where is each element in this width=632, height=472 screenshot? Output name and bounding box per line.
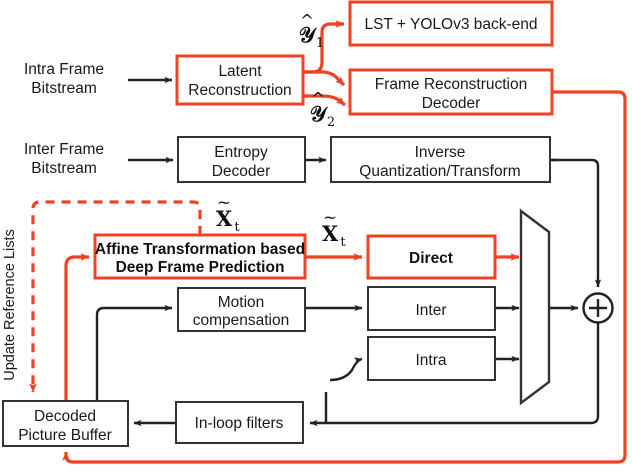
- block-direct[interactable]: Direct: [368, 236, 495, 278]
- inter-bitstream-line2: Bitstream: [31, 160, 96, 177]
- block-intra-mode[interactable]: Intra: [368, 337, 495, 380]
- edge-feed-to-intra: [330, 359, 362, 380]
- intra-bitstream-line1: Intra Frame: [24, 61, 104, 78]
- block-inverse-quantization-transform[interactable]: Inverse Quantization/Transform: [331, 137, 550, 182]
- block-latent-reconstruction[interactable]: Latent Reconstruction: [177, 56, 303, 104]
- inverse-quant-label-line2: Quantization/Transform: [359, 163, 520, 180]
- affine-prediction-label-line2: Deep Frame Prediction: [116, 259, 285, 276]
- x-tilde-left-symbol: X: [216, 206, 233, 231]
- x-tilde-right-subscript: t: [340, 235, 346, 250]
- intra-mode-label: Intra: [415, 352, 446, 369]
- frame-reconstruction-decoder-label-line1: Frame Reconstruction: [375, 76, 527, 93]
- edge-update-reference-lists: [33, 202, 200, 392]
- frame-reconstruction-decoder-label-line2: Decoder: [422, 95, 481, 112]
- annotation-x-tilde-t-left: ~ X t: [216, 193, 241, 235]
- edge-latent-to-frd-upper: [303, 72, 344, 85]
- y-hat-2-subscript: 2: [327, 115, 335, 130]
- input-intra-frame-bitstream: Intra Frame Bitstream: [24, 61, 104, 97]
- y-hat-1-subscript: 1: [316, 36, 324, 51]
- mux-selector[interactable]: [521, 211, 549, 403]
- block-motion-compensation[interactable]: Motion compensation: [178, 288, 305, 331]
- edge-dpb-to-affine: [66, 257, 89, 401]
- entropy-decoder-label-line2: Decoder: [212, 163, 271, 180]
- direct-label: Direct: [409, 250, 453, 267]
- motion-compensation-label-line2: compensation: [193, 312, 290, 329]
- block-frame-reconstruction-decoder[interactable]: Frame Reconstruction Decoder: [350, 70, 552, 114]
- latent-reconstruction-label-line1: Latent: [218, 63, 262, 80]
- connectors-red-dashed: [33, 202, 200, 392]
- annotation-x-tilde-t-right: ~ X t: [322, 208, 347, 250]
- annotation-y-hat-2: ^ 𝒴 2: [310, 89, 335, 130]
- entropy-decoder-label-line1: Entropy: [214, 144, 268, 161]
- x-tilde-left-subscript: t: [234, 220, 240, 235]
- adder-node: [584, 294, 613, 323]
- motion-compensation-label-line1: Motion: [218, 294, 265, 311]
- update-reference-lists-label: Update Reference Lists: [2, 229, 18, 381]
- inter-mode-label: Inter: [415, 302, 446, 319]
- inverse-quant-label-line1: Inverse: [415, 144, 466, 161]
- decoded-picture-buffer-label-line2: Picture Buffer: [18, 427, 112, 444]
- latent-reconstruction-label-line2: Reconstruction: [188, 82, 291, 99]
- decoded-picture-buffer-label-line1: Decoded: [34, 408, 96, 425]
- lst-yolov3-label: LST + YOLOv3 back-end: [364, 16, 537, 33]
- block-decoded-picture-buffer[interactable]: Decoded Picture Buffer: [3, 401, 128, 446]
- edge-dpb-to-motioncomp: [97, 308, 172, 401]
- x-tilde-right-symbol: X: [322, 221, 339, 246]
- affine-prediction-label-line1: Affine Transformation based: [95, 241, 305, 258]
- edge-invquant-to-adder: [550, 160, 598, 287]
- block-inter-mode[interactable]: Inter: [368, 287, 495, 330]
- block-lst-yolov3-backend[interactable]: LST + YOLOv3 back-end: [350, 2, 552, 45]
- diagram-canvas: Latent Reconstruction LST + YOLOv3 back-…: [0, 0, 632, 472]
- annotation-y-hat-1: ^ 𝒴 1: [299, 11, 324, 51]
- block-affine-deep-frame-prediction[interactable]: Affine Transformation based Deep Frame P…: [95, 235, 305, 278]
- decoder-architecture-diagram: Latent Reconstruction LST + YOLOv3 back-…: [0, 0, 632, 472]
- intra-bitstream-line2: Bitstream: [31, 80, 96, 97]
- block-entropy-decoder[interactable]: Entropy Decoder: [178, 137, 305, 182]
- block-in-loop-filters[interactable]: In-loop filters: [176, 402, 303, 443]
- annotation-update-reference-lists: Update Reference Lists: [2, 229, 18, 381]
- inter-bitstream-line1: Inter Frame: [24, 141, 104, 158]
- in-loop-filters-label: In-loop filters: [195, 415, 284, 432]
- input-inter-frame-bitstream: Inter Frame Bitstream: [24, 141, 104, 177]
